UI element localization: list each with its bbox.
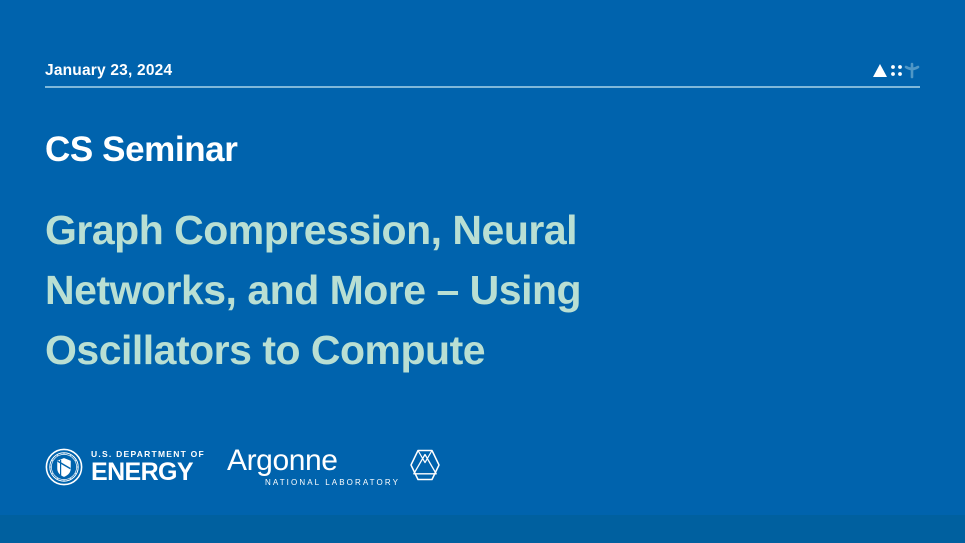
slide-date: January 23, 2024	[45, 62, 172, 80]
argonne-hexagon-icon	[406, 448, 444, 482]
presentation-slide: January 23, 2024 CS Seminar Graph Compre…	[0, 0, 965, 543]
bottom-band	[0, 515, 965, 543]
slide-title: Graph Compression, Neural Networks, and …	[45, 200, 785, 380]
argonne-glyph-mark-icon	[864, 60, 920, 82]
slide-header: January 23, 2024	[45, 62, 920, 90]
argonne-name-text: Argonne	[227, 446, 400, 476]
argonne-wordmark: Argonne NATIONAL LABORATORY	[227, 446, 400, 487]
header-divider	[45, 86, 920, 88]
doe-energy-text: ENERGY	[91, 461, 205, 484]
doe-wordmark: U.S. DEPARTMENT OF ENERGY	[91, 450, 205, 484]
title-line-1: Graph Compression, Neural	[45, 200, 785, 260]
seminar-series-label: CS Seminar	[45, 130, 237, 170]
argonne-logo: Argonne NATIONAL LABORATORY	[227, 444, 444, 490]
doe-seal-icon	[45, 448, 83, 486]
title-line-3: Oscillators to Compute	[45, 320, 785, 380]
argonne-tagline-text: NATIONAL LABORATORY	[265, 479, 400, 487]
doe-logo: U.S. DEPARTMENT OF ENERGY	[45, 446, 205, 488]
logo-lockup: U.S. DEPARTMENT OF ENERGY Argonne NATION…	[45, 442, 444, 492]
title-line-2: Networks, and More – Using	[45, 260, 785, 320]
